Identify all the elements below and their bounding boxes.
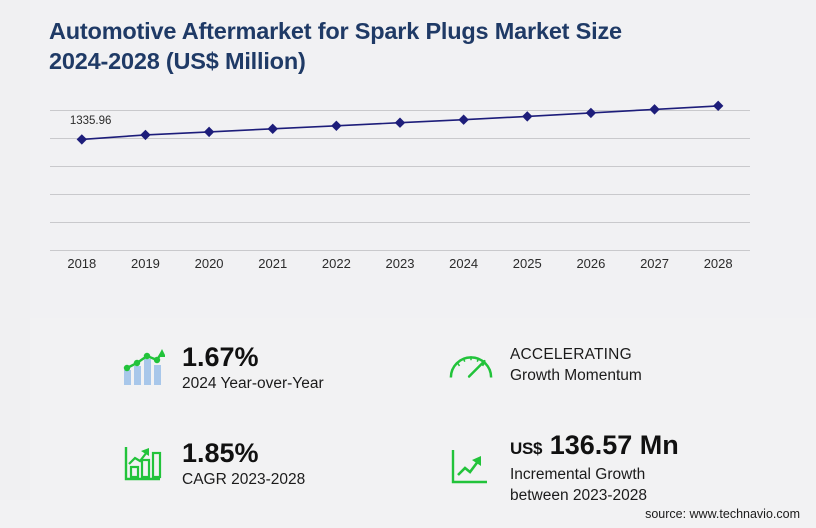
data-point-marker xyxy=(649,104,659,114)
stat-label-incremental-line1: Incremental Growth xyxy=(510,464,679,485)
x-axis-tick-2023: 2023 xyxy=(370,256,430,271)
x-axis-tick-2024: 2024 xyxy=(434,256,494,271)
stat-label-momentum: Growth Momentum xyxy=(510,365,642,386)
data-point-label: 1335.96 xyxy=(70,115,112,127)
stat-label-cagr: CAGR 2023-2028 xyxy=(182,469,305,490)
data-point-marker xyxy=(140,130,150,140)
x-axis-tick-2022: 2022 xyxy=(306,256,366,271)
stat-label-incremental-line2: between 2023-2028 xyxy=(510,485,679,506)
data-point-marker xyxy=(331,121,341,131)
data-point-marker xyxy=(268,124,278,134)
data-point-marker xyxy=(713,101,723,111)
stat-amount-incremental: 136.57 Mn xyxy=(550,430,679,460)
data-point-marker xyxy=(586,108,596,118)
stat-label-yoy: 2024 Year-over-Year xyxy=(182,373,324,394)
stat-text-incremental: US$ 136.57 Mn Incremental Growth between… xyxy=(510,430,679,506)
stat-unit-prefix: US$ xyxy=(510,439,542,458)
stat-value-yoy: 1.67% xyxy=(182,342,324,373)
data-point-marker xyxy=(204,127,214,137)
x-axis-tick-2021: 2021 xyxy=(243,256,303,271)
series-markers xyxy=(77,101,724,145)
stat-caps-momentum: ACCELERATING xyxy=(510,344,642,365)
stat-card-yoy: 1.67% 2024 Year-over-Year xyxy=(120,342,324,394)
x-axis-tick-2020: 2020 xyxy=(179,256,239,271)
x-axis-tick-2018: 2018 xyxy=(52,256,112,271)
infographic-page: Automotive Aftermarket for Spark Plugs M… xyxy=(0,0,816,528)
stat-card-momentum: ACCELERATING Growth Momentum xyxy=(448,342,642,388)
stat-text-momentum: ACCELERATING Growth Momentum xyxy=(510,344,642,386)
line-arrow-up-icon xyxy=(448,445,494,491)
chart-series-svg xyxy=(0,0,816,300)
data-point-marker xyxy=(458,114,468,124)
bar-line-growth-icon xyxy=(120,345,166,391)
x-axis-tick-2019: 2019 xyxy=(115,256,175,271)
x-axis-tick-2027: 2027 xyxy=(625,256,685,271)
data-point-marker xyxy=(395,118,405,128)
stat-text-cagr: 1.85% CAGR 2023-2028 xyxy=(182,438,305,490)
x-axis-tick-2028: 2028 xyxy=(688,256,748,271)
stats-grid: 1.67% 2024 Year-over-Year ACCELERATING xyxy=(30,320,816,500)
x-axis-tick-2026: 2026 xyxy=(561,256,621,271)
line-chart: 1335.96 20182019202020212022202320242025… xyxy=(0,0,816,300)
x-axis-line xyxy=(50,250,750,251)
speedometer-icon xyxy=(448,342,494,388)
source-attribution: source: www.technavio.com xyxy=(645,507,800,521)
bar-chart-arrow-icon xyxy=(120,441,166,487)
stat-card-incremental: US$ 136.57 Mn Incremental Growth between… xyxy=(448,430,679,506)
data-point-marker xyxy=(77,134,87,144)
stat-text-yoy: 1.67% 2024 Year-over-Year xyxy=(182,342,324,394)
stat-value-cagr: 1.85% xyxy=(182,438,305,469)
data-point-marker xyxy=(522,111,532,121)
x-axis-tick-2025: 2025 xyxy=(497,256,557,271)
stat-value-incremental: US$ 136.57 Mn xyxy=(510,430,679,464)
stat-card-cagr: 1.85% CAGR 2023-2028 xyxy=(120,438,305,490)
